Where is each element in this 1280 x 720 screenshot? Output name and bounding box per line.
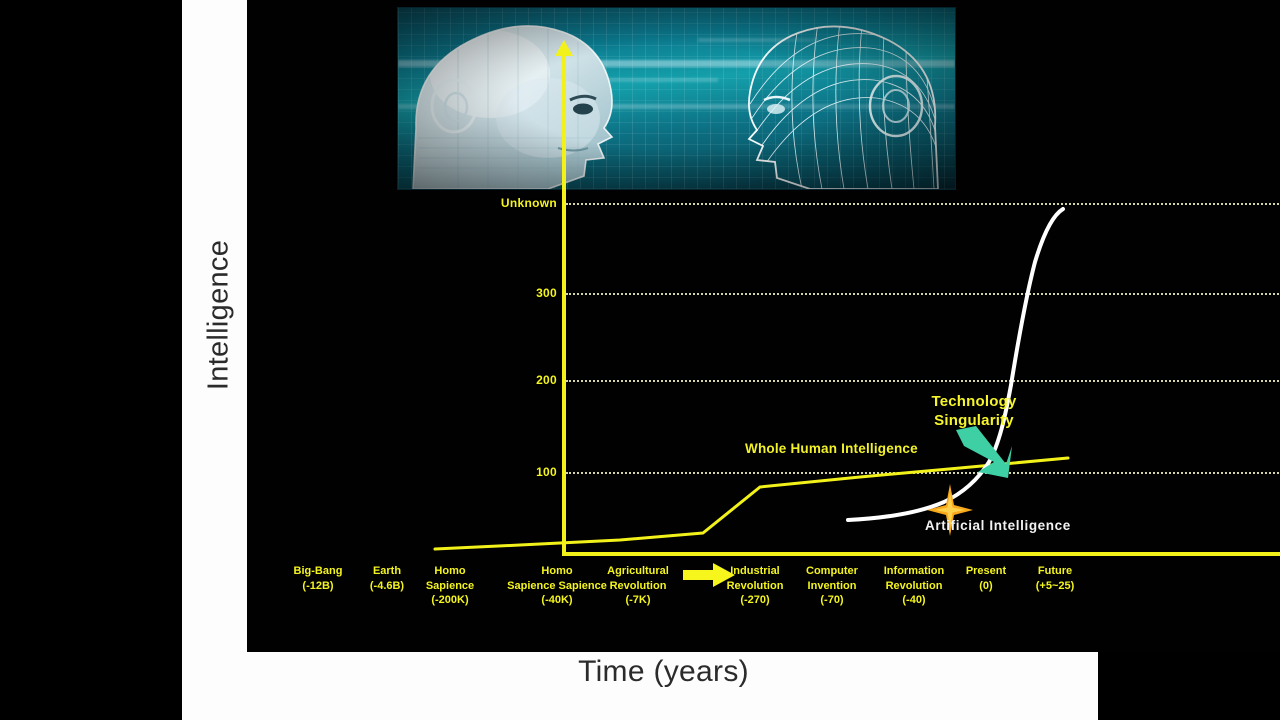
x-label-homo-sapience-line1: Homo xyxy=(410,564,490,579)
chart-canvas: Unknown 300 200 100 Whole Human Intel xyxy=(247,0,1280,652)
x-label-big-bang-line2: (-12B) xyxy=(275,579,361,594)
x-label-homo-sapience-line2: Sapience xyxy=(410,579,490,594)
x-label-agri-line2: Revolution xyxy=(588,579,688,594)
x-label-big-bang-line1: Big-Bang xyxy=(275,564,361,579)
x-label-homo-sapience-line3: (-200K) xyxy=(410,593,490,608)
x-label-info-line2: Revolution xyxy=(864,579,964,594)
x-label-future-line1: Future xyxy=(1013,564,1097,579)
y-axis-title: Intelligence xyxy=(182,200,256,430)
label-artificial-intelligence: Artificial Intelligence xyxy=(925,518,1071,533)
y-axis-title-text: Intelligence xyxy=(203,240,236,390)
x-axis-title: Time (years) xyxy=(247,655,1080,689)
x-label-information-revolution: Information Revolution (-40) xyxy=(864,564,964,608)
label-technology-singularity-line1: Technology xyxy=(908,392,1040,411)
x-label-info-line1: Information xyxy=(864,564,964,579)
x-label-agricultural-revolution: Agricultural Revolution (-7K) xyxy=(588,564,688,608)
x-label-big-bang: Big-Bang (-12B) xyxy=(275,564,361,593)
x-label-agri-line1: Agricultural xyxy=(588,564,688,579)
x-label-homo-sapience: Homo Sapience (-200K) xyxy=(410,564,490,608)
series-layer xyxy=(247,0,1280,652)
x-label-future-line2: (+5~25) xyxy=(1013,579,1097,594)
x-label-future: Future (+5~25) xyxy=(1013,564,1097,593)
label-whole-human-intelligence: Whole Human Intelligence xyxy=(745,441,918,456)
slide-stage: Unknown 300 200 100 Whole Human Intel xyxy=(0,0,1280,720)
x-label-present: Present (0) xyxy=(950,564,1022,593)
x-label-info-line3: (-40) xyxy=(864,593,964,608)
x-label-agri-line3: (-7K) xyxy=(588,593,688,608)
x-label-present-line2: (0) xyxy=(950,579,1022,594)
singularity-arrow-icon xyxy=(952,424,1014,480)
x-label-present-line1: Present xyxy=(950,564,1022,579)
